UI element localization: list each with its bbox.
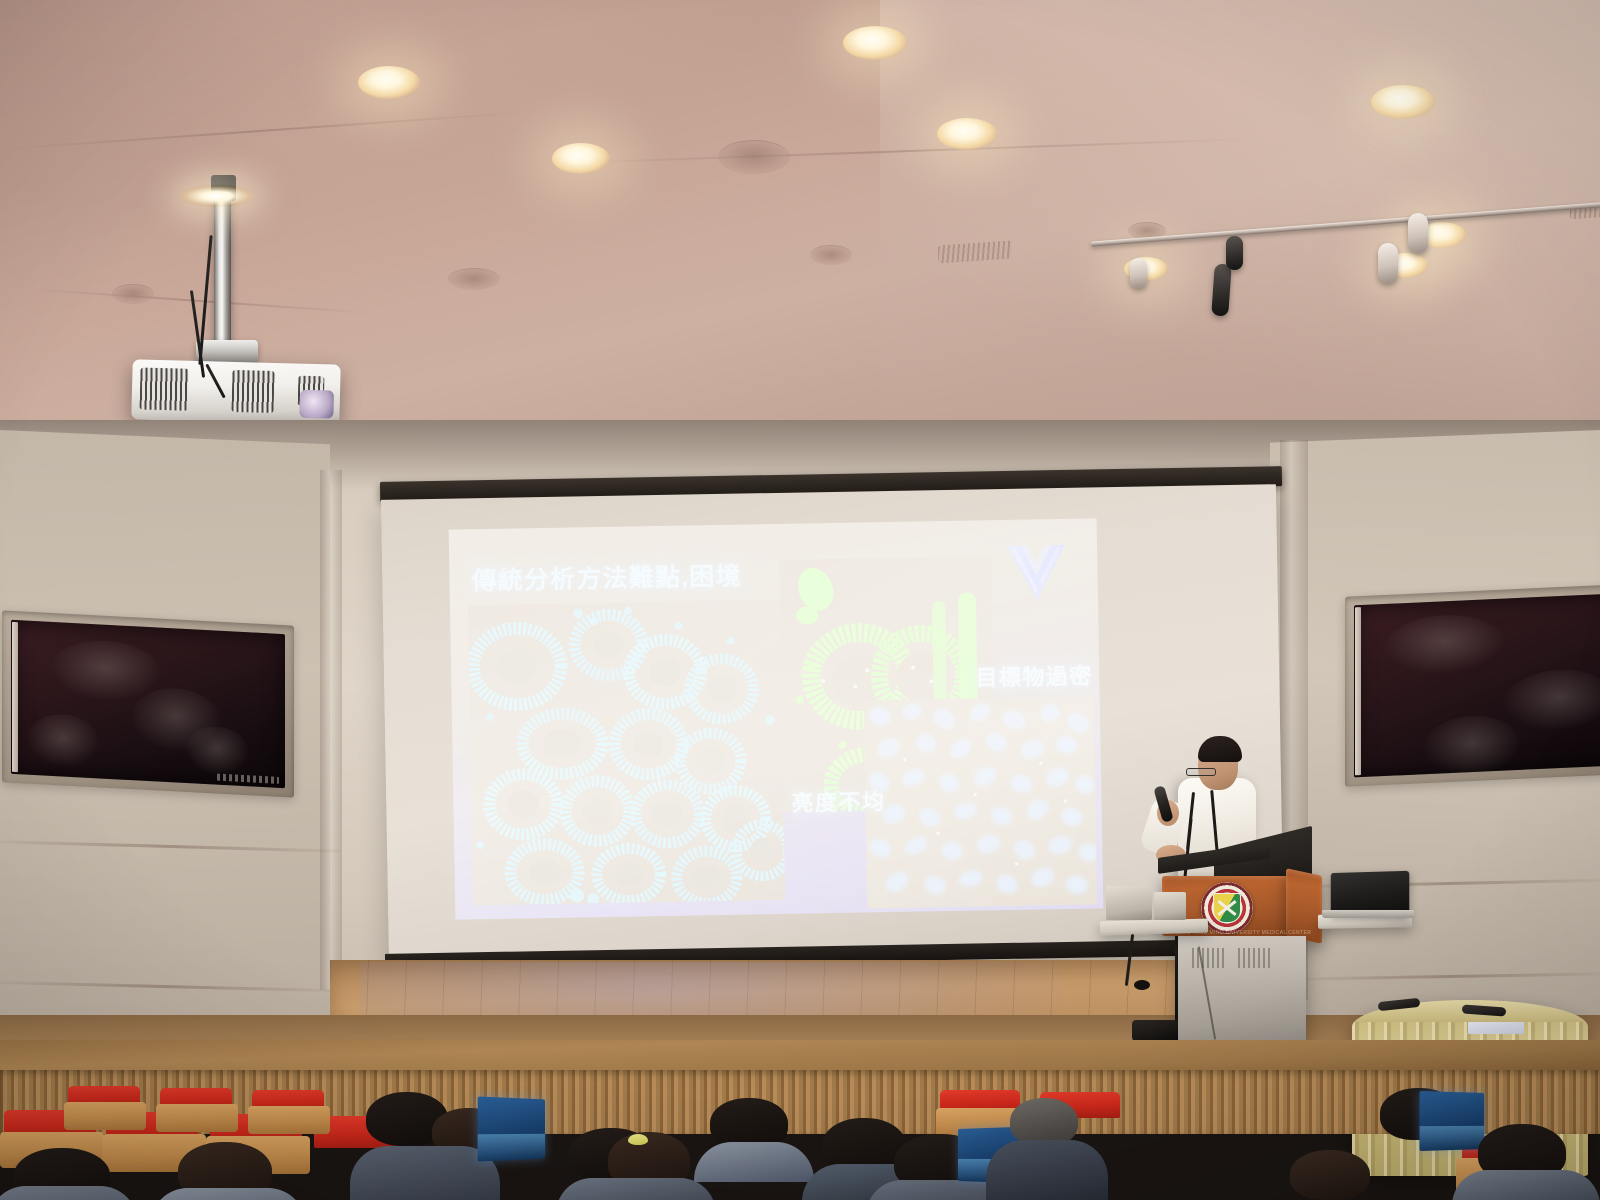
wall-display-left[interactable] bbox=[2, 610, 294, 797]
audience-seat-back bbox=[248, 1106, 330, 1134]
audience-laptop[interactable] bbox=[1420, 1091, 1485, 1151]
ceiling-vent bbox=[112, 284, 154, 304]
audience-shoulders bbox=[556, 1178, 716, 1200]
display-reflection bbox=[27, 713, 99, 769]
projector-lens bbox=[299, 390, 334, 419]
ceiling-downlight bbox=[358, 66, 420, 99]
display-reflection bbox=[1504, 668, 1600, 733]
projector-vent-left bbox=[140, 367, 189, 410]
projector-indicator-light bbox=[180, 185, 254, 207]
av-control-box[interactable] bbox=[1106, 886, 1152, 920]
wall-display-left-screen bbox=[11, 620, 285, 788]
speaker-shoe bbox=[1132, 1020, 1182, 1042]
crest-shield bbox=[1213, 893, 1241, 923]
display-bezel-strip bbox=[12, 622, 18, 772]
label-brightness: 亮度不均 bbox=[791, 784, 886, 818]
presenter-laptop-base bbox=[1322, 910, 1414, 918]
label-density: 目標物過密 bbox=[975, 658, 1093, 692]
auditorium-scene: 傳統分析方法難點,困境 bbox=[0, 0, 1600, 1200]
presentation-slide: 傳統分析方法難點,困境 bbox=[449, 518, 1104, 919]
audience-laptop[interactable] bbox=[478, 1096, 545, 1161]
audience-head bbox=[1290, 1150, 1370, 1200]
audience-shoulders bbox=[150, 1188, 306, 1200]
equipment-side-table bbox=[1100, 919, 1208, 936]
dense-nuclei-micrograph bbox=[864, 696, 1098, 908]
laptop-wallpaper bbox=[1420, 1125, 1485, 1151]
speaker-eyeglasses bbox=[1186, 768, 1216, 776]
ceiling-downlight bbox=[937, 118, 997, 150]
audience-head bbox=[1010, 1098, 1078, 1146]
display-reflection bbox=[1424, 714, 1520, 778]
table-document bbox=[1468, 1022, 1524, 1034]
v-chevron-icon bbox=[1001, 537, 1072, 604]
wall-display-right[interactable] bbox=[1345, 583, 1600, 787]
display-reflection bbox=[1384, 613, 1504, 676]
ceiling-downlight bbox=[552, 143, 610, 174]
display-bezel-strip bbox=[1355, 607, 1361, 775]
audience-seat-back bbox=[156, 1104, 238, 1132]
av-control-box[interactable] bbox=[1154, 892, 1186, 920]
ceiling-vent bbox=[718, 140, 790, 174]
audience-shoulders bbox=[694, 1142, 814, 1182]
track-spotlight bbox=[1408, 213, 1428, 253]
display-reflection bbox=[51, 638, 161, 704]
projector-pole-mount bbox=[214, 192, 231, 347]
wall-display-right-screen bbox=[1354, 593, 1600, 778]
cable-coil bbox=[1134, 980, 1150, 990]
laptop-wallpaper bbox=[478, 1134, 545, 1162]
hair-bow bbox=[628, 1134, 648, 1145]
track-spotlight-dark bbox=[1211, 263, 1232, 316]
dense-nuclei-render bbox=[864, 696, 1098, 908]
audience-shoulders bbox=[986, 1140, 1108, 1200]
wall-pillar bbox=[320, 470, 342, 990]
projector-vent-mid bbox=[231, 370, 274, 413]
projector-body bbox=[131, 359, 340, 424]
ceiling-downlight bbox=[843, 26, 907, 60]
lectern-vent-grille bbox=[1238, 948, 1272, 968]
cyan-cells-micrograph bbox=[468, 600, 785, 905]
track-spotlight-dark bbox=[1226, 236, 1243, 270]
cyan-cells-render bbox=[468, 600, 785, 905]
ceiling-vent bbox=[810, 245, 852, 265]
v-chevron-logo bbox=[1001, 537, 1072, 604]
display-osd-text bbox=[217, 774, 279, 784]
audience-seat-back bbox=[64, 1102, 146, 1130]
track-spotlight bbox=[1378, 243, 1398, 283]
slide-title: 傳統分析方法難點,困境 bbox=[471, 557, 742, 598]
lectern-vent-grille bbox=[1192, 948, 1226, 968]
ceiling-downlight bbox=[1371, 85, 1435, 119]
university-crest bbox=[1201, 882, 1253, 934]
audience-shoulders bbox=[0, 1186, 138, 1200]
display-reflection bbox=[185, 725, 249, 776]
audience-shoulders bbox=[1452, 1170, 1600, 1200]
track-spotlight bbox=[1130, 258, 1147, 288]
ceiling-vent bbox=[448, 268, 500, 290]
